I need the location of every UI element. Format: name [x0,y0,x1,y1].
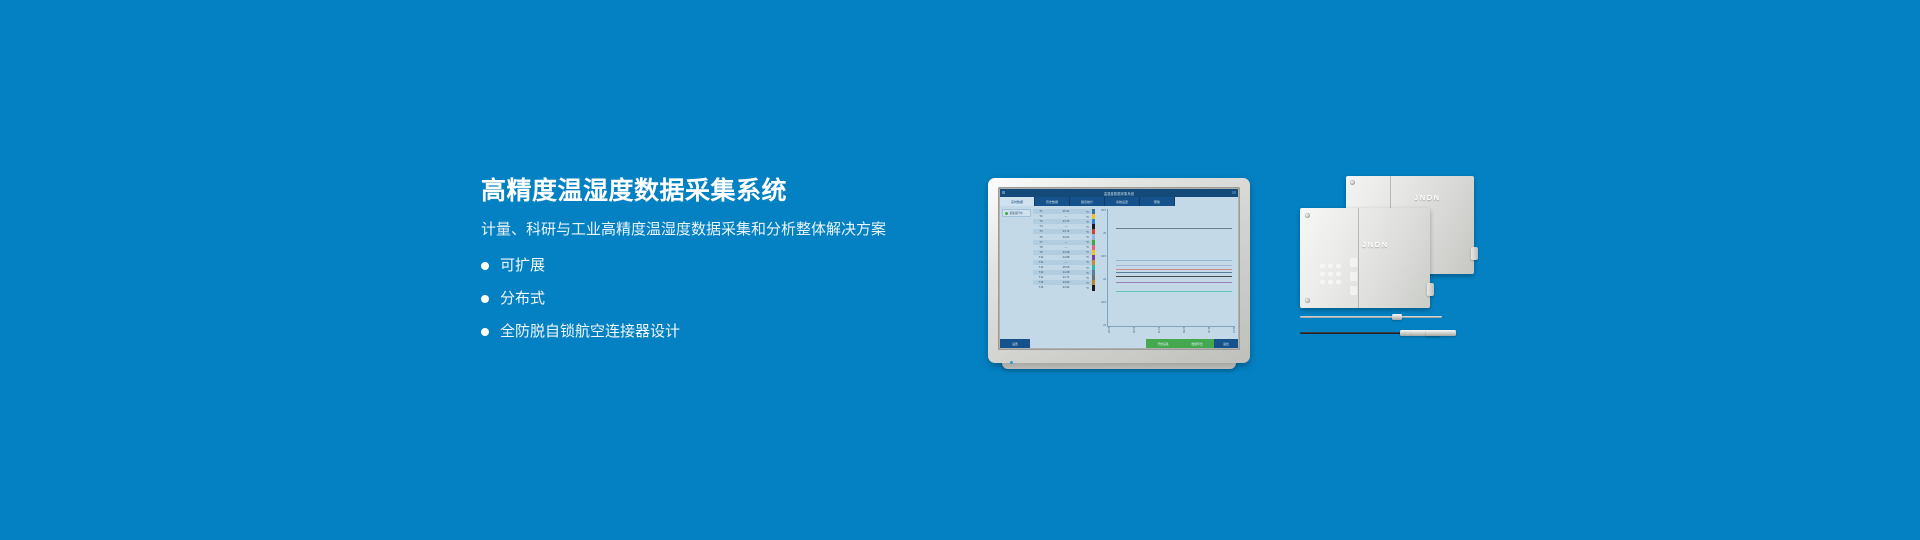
page-title: 高精度温湿度数据采集系统 [481,178,951,206]
chart-plot-area [1107,209,1235,327]
status-pane: 采集运行中 [1000,206,1033,339]
list-item [1300,314,1490,320]
channel-unit: ℃ [1083,215,1092,219]
channel-label: T10 [1033,256,1049,259]
label-emboss [1336,264,1341,268]
x-tick-label: 11:00 [1207,327,1210,337]
channel-label: T1 [1033,210,1049,213]
channel-value: 24.98 [1049,251,1083,254]
chart-x-axis: 10:2010:3010:4010:5011:0011:10 [1107,327,1235,337]
channel-label: T8 [1033,246,1049,249]
channel-value: 24.72 [1049,230,1083,233]
settings-button[interactable]: 设置 [1000,339,1030,348]
start-capture-button[interactable]: 开始采集 [1146,339,1180,348]
tab-bar: 实时数据 历史数据 报表统计 系统设置 帮助 [1000,197,1238,206]
chart-trace [1116,269,1233,270]
screw-icon [1305,213,1310,218]
channel-value: --- [1049,261,1083,264]
icon-emboss [1350,258,1357,267]
tab-history[interactable]: 历史数据 [1035,197,1070,206]
channel-unit: ℃ [1083,281,1092,285]
channel-label: T4 [1033,225,1049,228]
channel-value: --- [1049,215,1083,218]
y-tick-label: 25 [1097,232,1106,235]
channel-unit: ℃ [1083,250,1092,254]
channel-value: 24.61 [1049,236,1083,239]
probe-band [1410,331,1412,336]
brand-logo: JNDN [1414,193,1441,202]
channel-label: T5 [1033,230,1049,233]
table-row[interactable]: T1624.94℃ [1033,285,1095,290]
probe-tip [1426,330,1456,336]
channel-value: --- [1049,241,1083,244]
channel-value: --- [1049,246,1083,249]
channel-unit: ℃ [1083,245,1092,249]
label-emboss [1320,264,1325,268]
channel-table: T125.31℃T2---℃T324.74℃T4---℃T524.72℃T624… [1033,206,1095,339]
channel-unit: ℃ [1083,271,1092,275]
app-body: 采集运行中 T125.31℃T2---℃T324.74℃T4---℃T524.7… [1000,206,1238,339]
channel-label: T6 [1033,236,1049,239]
window-controls[interactable] [1232,191,1236,194]
probe-group [1300,308,1490,358]
channel-value: 24.94 [1049,286,1083,289]
y-tick-label: 25.5 [1097,209,1106,212]
probe-band [1404,331,1406,336]
channel-unit: ℃ [1083,235,1092,239]
monitor-device: 温湿度数据采集系统 实时数据 历史数据 报表统计 系统设置 帮助 [988,178,1250,363]
hero-banner: 高精度温湿度数据采集系统 计量、科研与工业高精度温湿度数据采集和分析整体解决方案… [0,0,1920,540]
app-title: 温湿度数据采集系统 [1104,191,1135,196]
chart-trace [1116,260,1233,261]
channel-unit: ℃ [1083,260,1092,264]
y-tick-label: 23.5 [1097,301,1106,304]
exit-button[interactable]: 退出 [1214,339,1238,348]
channel-label: T2 [1033,215,1049,218]
chart-trace [1116,276,1233,277]
x-tick-label: 10:20 [1107,327,1110,337]
status-led-icon [1005,212,1008,215]
power-led-icon [1010,361,1013,364]
list-item: 全防脱自锁航空连接器设计 [481,323,951,341]
tab-help[interactable]: 帮助 [1140,197,1175,206]
feature-label: 可扩展 [500,257,545,275]
icon-emboss [1350,272,1357,281]
label-emboss [1336,272,1341,276]
export-data-button[interactable]: 数据导出 [1180,339,1214,348]
tab-report[interactable]: 报表统计 [1070,197,1105,206]
feature-list: 可扩展 分布式 全防脱自锁航空连接器设计 [481,257,951,341]
channel-label: T7 [1033,241,1049,244]
monitor-screen: 温湿度数据采集系统 实时数据 历史数据 报表统计 系统设置 帮助 [1000,189,1238,348]
label-emboss [1328,272,1333,276]
app-menu-icon[interactable] [1002,191,1005,194]
footer-spacer [1030,339,1146,348]
screw-icon [1305,298,1310,303]
bullet-icon [481,295,489,303]
connector-port [1471,247,1478,260]
probe-cable [1300,332,1406,334]
tab-realtime[interactable]: 实时数据 [1000,197,1035,206]
chart-trace [1116,272,1233,273]
enclosure-group: JNDN JNDN [1300,176,1480,311]
label-emboss [1328,280,1333,284]
channel-label: T14 [1033,276,1049,279]
app-footer: 设置 开始采集 数据导出 退出 [1000,339,1238,348]
page-subtitle: 计量、科研与工业高精度温湿度数据采集和分析整体解决方案 [481,220,951,240]
brand-logo: JNDN [1362,240,1389,249]
channel-value: --- [1049,225,1083,228]
channel-label: T11 [1033,261,1049,264]
channel-value: 25.06 [1049,266,1083,269]
chart-trace [1116,282,1233,283]
y-tick-label: 24 [1097,278,1106,281]
x-tick-label: 10:30 [1132,327,1135,337]
channel-label: T12 [1033,266,1049,269]
y-tick-label: 24.5 [1097,255,1106,258]
status-badge: 采集运行中 [1002,209,1031,217]
channel-unit: ℃ [1083,255,1092,259]
chart-trace [1116,228,1233,229]
status-label: 采集运行中 [1010,211,1023,215]
channel-value: 24.90 [1049,281,1083,284]
channel-value: 25.31 [1049,210,1083,213]
label-emboss [1328,264,1333,268]
channel-unit: ℃ [1083,240,1092,244]
channel-value: 24.71 [1049,276,1083,279]
chart-y-axis: 25.52524.52423.523 [1097,209,1106,327]
channel-label: T9 [1033,251,1049,254]
channel-label: T3 [1033,220,1049,223]
channel-value: 24.74 [1049,220,1083,223]
banner-copy: 高精度温湿度数据采集系统 计量、科研与工业高精度温湿度数据采集和分析整体解决方案… [481,178,951,356]
channel-unit: ℃ [1083,276,1092,280]
feature-label: 分布式 [500,290,545,308]
channel-unit: ℃ [1083,225,1092,229]
monitor-bezel: 温湿度数据采集系统 实时数据 历史数据 报表统计 系统设置 帮助 [988,178,1250,363]
list-item: 可扩展 [481,257,951,275]
tab-settings[interactable]: 系统设置 [1105,197,1140,206]
channel-label: T13 [1033,271,1049,274]
channel-label: T15 [1033,281,1049,284]
bullet-icon [481,262,489,270]
app-titlebar: 温湿度数据采集系统 [1000,189,1238,197]
channel-unit: ℃ [1083,286,1092,290]
trend-chart: 25.52524.52423.523 10:2010:3010:4010:501… [1095,206,1238,339]
channel-unit: ℃ [1083,230,1092,234]
connector-port [1427,283,1434,296]
label-emboss [1320,272,1325,276]
list-item [1300,330,1490,336]
channel-label: T16 [1033,286,1049,289]
bullet-icon [481,328,489,336]
icon-emboss [1350,286,1357,295]
probe-cable [1300,316,1396,318]
chart-trace [1116,265,1233,266]
x-tick-label: 11:10 [1232,327,1235,337]
label-emboss [1320,280,1325,284]
feature-label: 全防脱自锁航空连接器设计 [500,323,680,341]
list-item: 分布式 [481,290,951,308]
channel-unit: ℃ [1083,266,1092,270]
y-tick-label: 23 [1097,324,1106,327]
x-tick-label: 10:40 [1157,327,1160,337]
label-emboss [1336,280,1341,284]
channel-unit: ℃ [1083,220,1092,224]
channel-unit: ℃ [1083,210,1092,214]
chart-trace [1116,291,1233,292]
screw-icon [1350,180,1355,185]
monitor-inner-frame: 温湿度数据采集系统 实时数据 历史数据 报表统计 系统设置 帮助 [998,187,1240,350]
panel-seam [1358,208,1359,308]
enclosure-front: JNDN [1300,208,1430,308]
x-tick-label: 10:50 [1182,327,1185,337]
channel-value: 24.88 [1049,256,1083,259]
probe-ferrule [1392,314,1402,320]
channel-value: 24.28 [1049,271,1083,274]
